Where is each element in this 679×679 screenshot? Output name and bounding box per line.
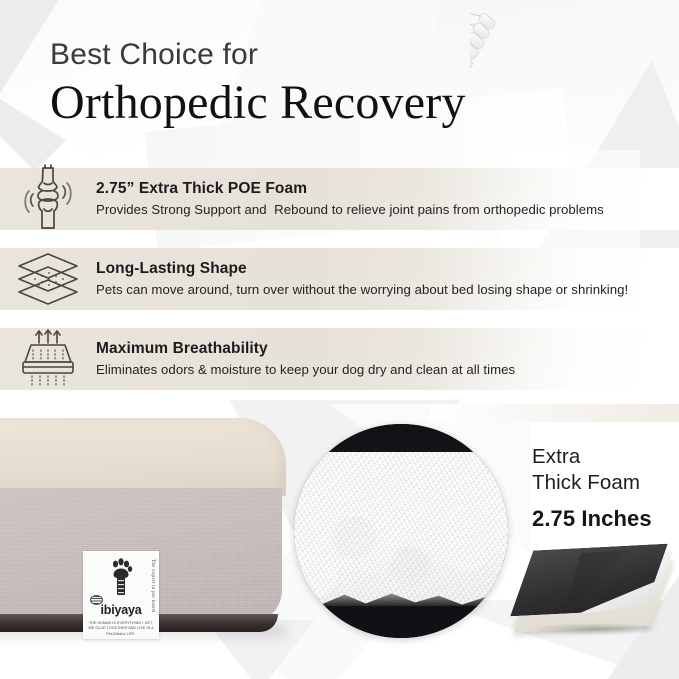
certification-seal-icon [90,595,103,605]
feature-text: Long-Lasting Shape Pets can move around,… [96,260,679,299]
callout-line-1: Extra [532,444,679,470]
feature-description: Provides Strong Support and Rebound to r… [96,201,669,218]
headline-eyebrow: Best Choice for [50,38,466,71]
feature-row: Long-Lasting Shape Pets can move around,… [0,248,679,310]
label-tagline: The expert in pet travel [150,559,155,613]
stacked-layers-icon [0,251,96,307]
feature-text: 2.75” Extra Thick POE Foam Provides Stro… [96,180,679,219]
infographic-page: Best Choice for Orthopedic Recovery [0,0,679,679]
callout-measurement: 2.75 Inches [532,506,652,532]
brand-name: ibiyaya [101,603,142,617]
dog-bed-photo: The expert in pet travel ibiyaya THE HUM… [0,418,288,648]
knee-joint-icon [0,164,96,234]
headline-block: Best Choice for Orthopedic Recovery [50,38,466,132]
feature-description: Pets can move around, turn over without … [96,281,669,298]
breathability-mattress-icon [0,329,96,389]
feature-text: Maximum Breathability Eliminates odors &… [96,340,679,379]
feature-title: Maximum Breathability [96,340,669,358]
foam-closeup-circle [294,424,508,638]
page-title: Orthopedic Recovery [50,75,466,132]
feature-row: 2.75” Extra Thick POE Foam Provides Stro… [0,168,679,230]
feature-description: Eliminates odors & moisture to keep your… [96,361,669,378]
product-photo-section: The expert in pet travel ibiyaya THE HUM… [0,404,679,679]
foam-sample-photo [521,537,673,641]
feature-row: Maximum Breathability Eliminates odors &… [0,328,679,390]
spine-illustration-icon [470,8,679,173]
callout-block: Extra Thick Foam 2.75 Inches [532,444,679,532]
callout-line-2: Thick Foam [532,470,679,496]
feature-list: 2.75” Extra Thick POE Foam Provides Stro… [0,168,679,408]
feature-title: 2.75” Extra Thick POE Foam [96,180,669,198]
feature-title: Long-Lasting Shape [96,260,669,278]
label-fine-print: THE HUMAN IS EVERYTHING I GET, WE GLUE T… [83,621,159,637]
paw-print-icon [108,557,134,601]
brand-label: The expert in pet travel ibiyaya THE HUM… [83,551,159,639]
